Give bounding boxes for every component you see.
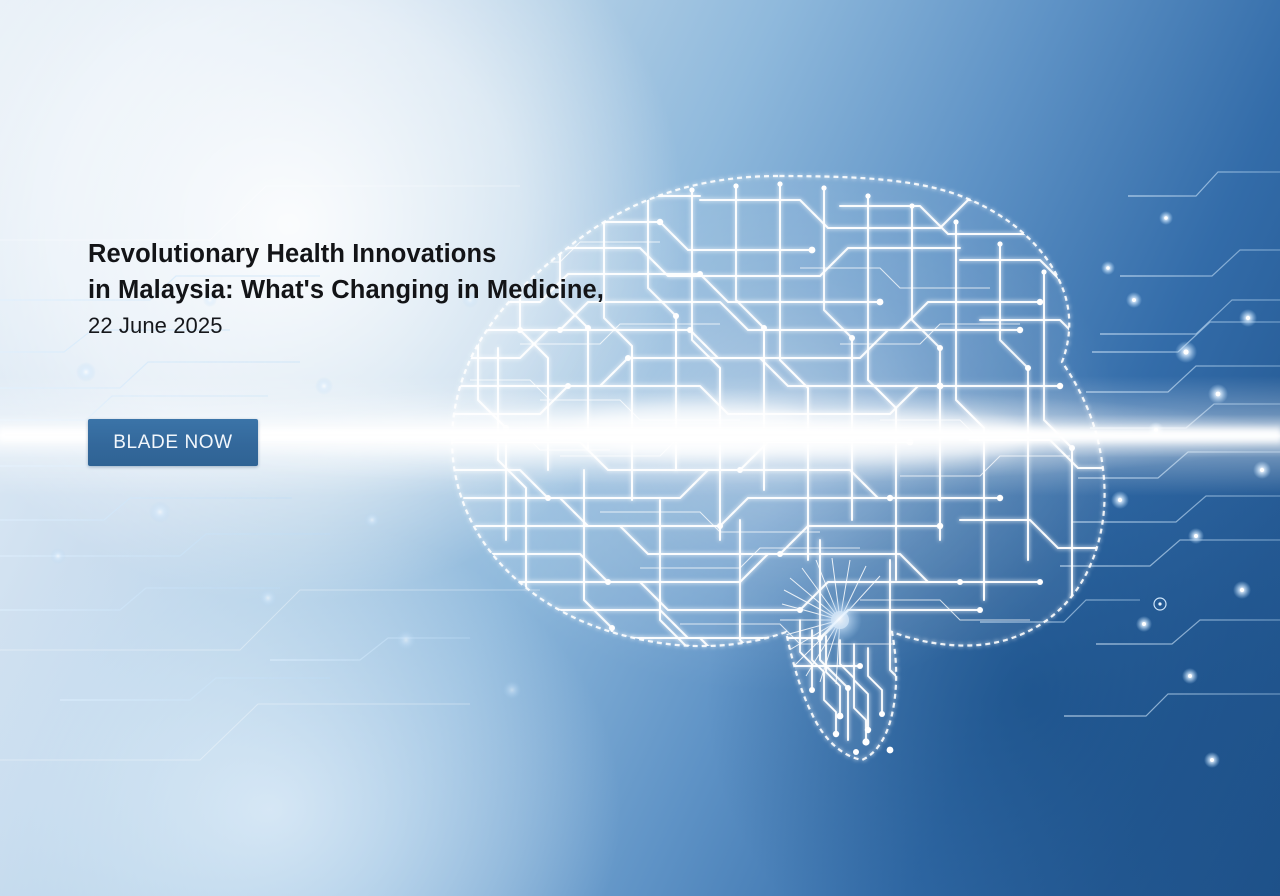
event-date: 22 June 2025	[88, 308, 648, 344]
hero-banner: Revolutionary Health Innovations in Mala…	[0, 0, 1280, 896]
blade-now-button[interactable]: BLADE NOW	[88, 419, 258, 466]
hero-text-block: Revolutionary Health Innovations in Mala…	[88, 236, 648, 344]
page-title: Revolutionary Health Innovations in Mala…	[88, 236, 648, 308]
